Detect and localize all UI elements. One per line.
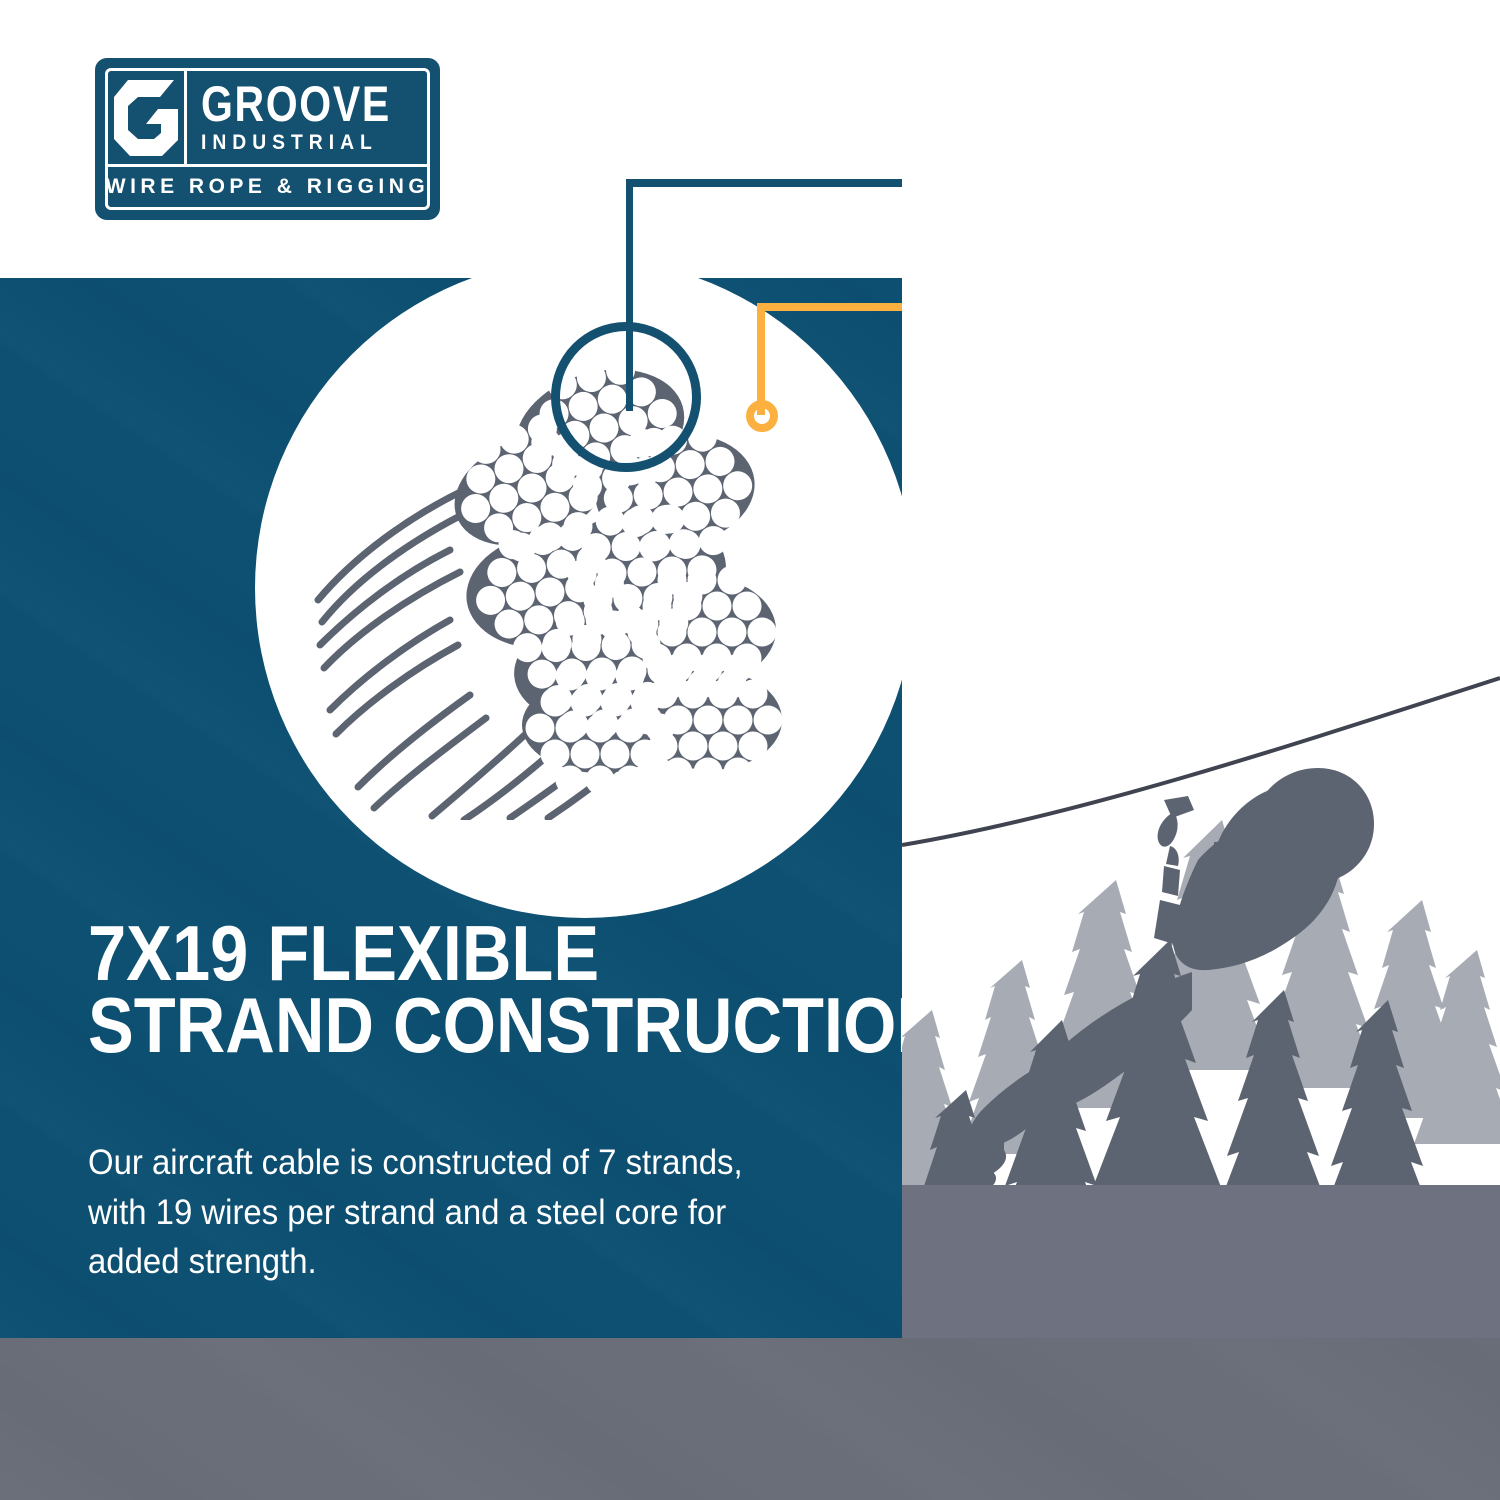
panel-body-text: Our aircraft cable is constructed of 7 s… [88, 1138, 746, 1287]
logo-top-row: GROOVE INDUSTRIAL [108, 71, 427, 167]
ground-wave-texture [0, 1338, 1500, 1500]
logo-name: GROOVE [201, 81, 391, 127]
zipline-scene [902, 0, 1500, 1338]
bottom-ground-strip [0, 1338, 1500, 1500]
panel-headline: 7X19 FLEXIBLE STRAND CONSTRUCTION [88, 918, 783, 1062]
leader-line-wires-vertical [757, 310, 765, 415]
logo-tagline-bar: WIRE ROPE & RIGGING [108, 167, 427, 207]
logo-tagline: WIRE ROPE & RIGGING [106, 175, 430, 199]
scene-ground-band [902, 1185, 1500, 1338]
logo-frame: GROOVE INDUSTRIAL WIRE ROPE & RIGGING [105, 68, 430, 210]
zipline-cable [902, 678, 1500, 845]
brand-logo: GROOVE INDUSTRIAL WIRE ROPE & RIGGING [95, 58, 440, 220]
logo-wordmark: GROOVE INDUSTRIAL [187, 71, 432, 164]
headline-line-1: 7X19 FLEXIBLE [88, 918, 783, 990]
infographic-canvas: GROOVE INDUSTRIAL WIRE ROPE & RIGGING [0, 0, 1500, 1500]
headline-line-2: STRAND CONSTRUCTION [88, 990, 783, 1062]
logo-subname: INDUSTRIAL [201, 131, 414, 155]
groove-g-monogram-icon [108, 71, 187, 164]
leader-line-strands-vertical [626, 186, 633, 411]
